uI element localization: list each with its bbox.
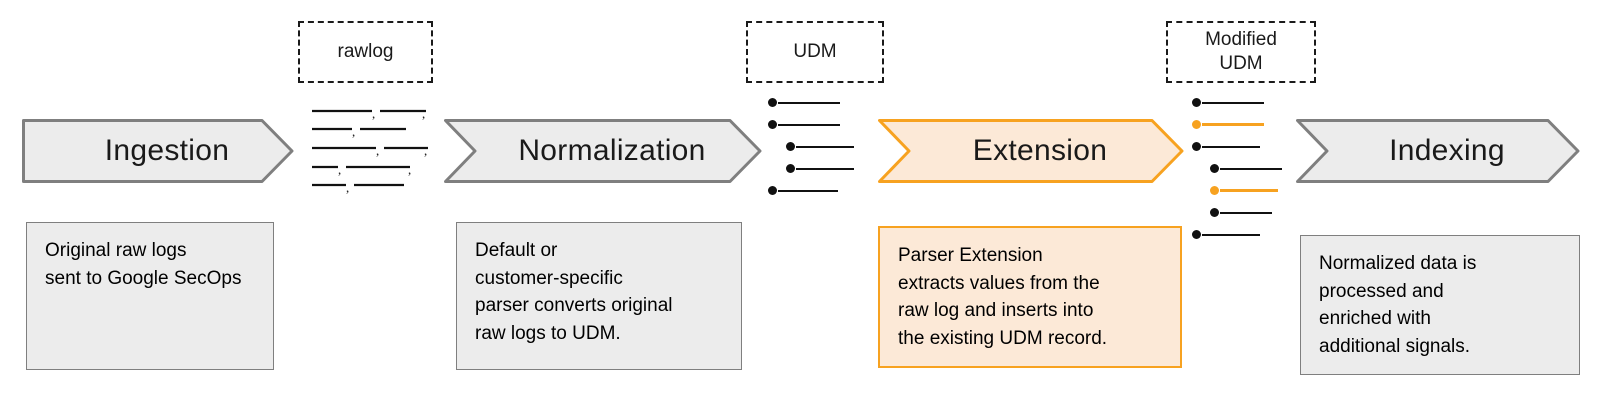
stage-indexing[interactable]: Indexing bbox=[1296, 119, 1580, 183]
udm-value-line bbox=[778, 102, 840, 104]
artifact-label-udm: UDM bbox=[746, 21, 884, 83]
modified-udm-bullet-icon bbox=[1192, 98, 1201, 107]
stage-ingestion[interactable]: Ingestion bbox=[22, 119, 294, 183]
udm-list-item bbox=[768, 98, 840, 107]
description-ingestion: Original raw logs sent to Google SecOps bbox=[26, 222, 274, 370]
modified-udm-list-item bbox=[1192, 142, 1260, 151]
modified-udm-value-line bbox=[1220, 168, 1282, 170]
stage-normalization-label: Normalization bbox=[500, 134, 705, 168]
artifact-label-modified-udm: Modified UDM bbox=[1166, 21, 1316, 83]
stage-indexing-label: Indexing bbox=[1371, 134, 1505, 168]
udm-list-item bbox=[786, 164, 854, 173]
svg-text:,: , bbox=[376, 143, 379, 158]
modified-udm-list-item bbox=[1192, 98, 1264, 107]
udm-bullet-icon bbox=[768, 120, 777, 129]
udm-list-item bbox=[768, 186, 838, 195]
udm-list-item bbox=[786, 142, 854, 151]
artifact-rawlog-lines: , , , , , , , , bbox=[310, 103, 428, 195]
modified-udm-value-line bbox=[1202, 234, 1260, 236]
description-indexing: Normalized data is processed and enriche… bbox=[1300, 235, 1580, 375]
modified-udm-list-item bbox=[1192, 230, 1260, 239]
stage-extension[interactable]: Extension bbox=[878, 119, 1184, 183]
description-extension: Parser Extension extracts values from th… bbox=[878, 226, 1182, 368]
modified-udm-list-item-added bbox=[1192, 120, 1264, 129]
modified-udm-value-line bbox=[1220, 212, 1272, 214]
udm-value-line bbox=[778, 190, 838, 192]
diagram-canvas: rawlog UDM Modified UDM Ingestion Normal… bbox=[0, 0, 1602, 402]
udm-list-item bbox=[768, 120, 840, 129]
modified-udm-bullet-icon bbox=[1210, 164, 1219, 173]
svg-text:,: , bbox=[408, 162, 411, 177]
svg-text:,: , bbox=[346, 180, 349, 195]
svg-text:,: , bbox=[422, 106, 425, 121]
stage-extension-label: Extension bbox=[955, 134, 1107, 168]
modified-udm-list-item bbox=[1210, 164, 1282, 173]
artifact-label-udm-text: UDM bbox=[793, 40, 836, 64]
modified-udm-list-item-added bbox=[1210, 186, 1278, 195]
svg-text:,: , bbox=[424, 143, 427, 158]
modified-udm-bullet-icon-added bbox=[1210, 186, 1219, 195]
stage-normalization[interactable]: Normalization bbox=[444, 119, 762, 183]
udm-bullet-icon bbox=[768, 186, 777, 195]
rawlog-lines-svg: , , , , , , , , bbox=[310, 103, 428, 195]
modified-udm-bullet-icon bbox=[1210, 208, 1219, 217]
modified-udm-bullet-icon-added bbox=[1192, 120, 1201, 129]
artifact-label-rawlog-text: rawlog bbox=[338, 40, 394, 64]
svg-text:,: , bbox=[338, 162, 341, 177]
modified-udm-bullet-icon bbox=[1192, 142, 1201, 151]
description-normalization: Default or customer-specific parser conv… bbox=[456, 222, 742, 370]
udm-value-line bbox=[796, 168, 854, 170]
modified-udm-bullet-icon bbox=[1192, 230, 1201, 239]
artifact-modified-udm-list bbox=[1192, 98, 1292, 240]
modified-udm-value-line-added bbox=[1202, 123, 1264, 126]
modified-udm-value-line bbox=[1202, 146, 1260, 148]
svg-text:,: , bbox=[372, 106, 375, 121]
udm-value-line bbox=[778, 124, 840, 126]
svg-text:,: , bbox=[352, 124, 355, 139]
artifact-udm-list bbox=[768, 98, 864, 196]
udm-bullet-icon bbox=[786, 164, 795, 173]
udm-bullet-icon bbox=[786, 142, 795, 151]
artifact-label-modified-udm-text: Modified UDM bbox=[1205, 28, 1277, 76]
modified-udm-value-line bbox=[1202, 102, 1264, 104]
modified-udm-value-line-added bbox=[1220, 189, 1278, 192]
udm-bullet-icon bbox=[768, 98, 777, 107]
modified-udm-list-item bbox=[1210, 208, 1272, 217]
stage-ingestion-label: Ingestion bbox=[87, 134, 229, 168]
udm-value-line bbox=[796, 146, 854, 148]
artifact-label-rawlog: rawlog bbox=[298, 21, 433, 83]
